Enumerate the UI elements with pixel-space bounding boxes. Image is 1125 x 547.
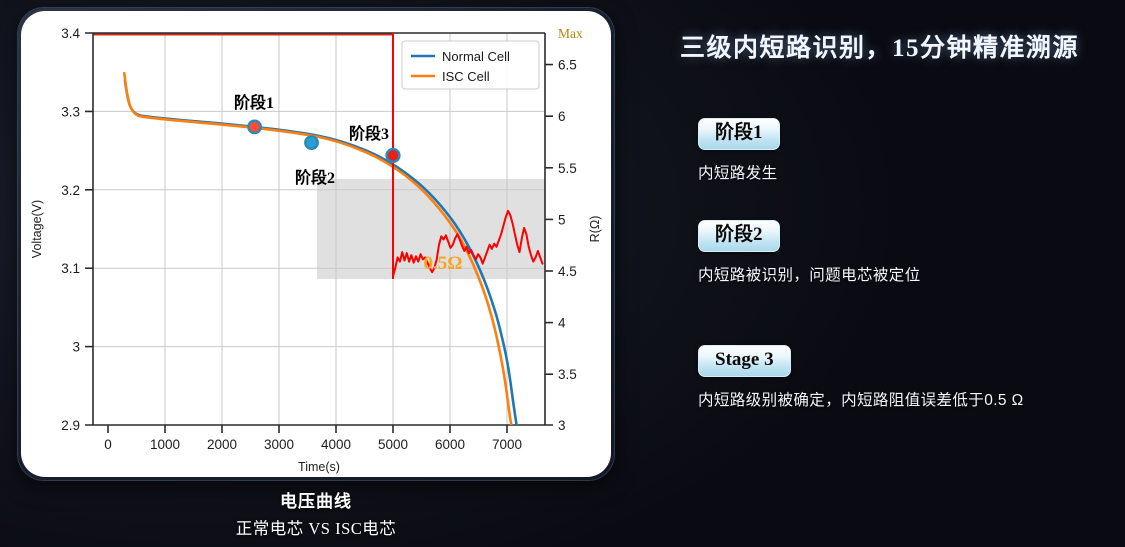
legend-label-normal-cell: Normal Cell [442, 49, 510, 64]
ytick-2.9: 2.9 [61, 418, 80, 433]
chart-card: 阶段1 阶段2 阶段3 0.5Ω [21, 11, 611, 477]
content-panel: 三级内短路识别，15分钟精准溯源 阶段1 内短路发生 阶段2 内短路被识别，问题… [640, 0, 1125, 547]
stage-2-description: 内短路被识别，问题电芯被定位 [698, 263, 1118, 285]
ytick-3.0: 3 [72, 340, 80, 355]
stage-3-chart-label: 阶段3 [349, 124, 389, 143]
ytick-right-6.0: 6 [558, 109, 566, 124]
y-axis-right: Max 6.5 6 5.5 4.5 5 4 3.5 3 R(Ω) [545, 26, 602, 433]
ytick-right-6.5: 6.5 [558, 58, 577, 73]
stage-1-chart-label: 阶段1 [234, 93, 274, 112]
stage-1-marker[interactable] [248, 121, 260, 133]
stage-1-badge[interactable]: 阶段1 [698, 118, 780, 150]
resistance-error-annotation: 0.5Ω [424, 253, 463, 274]
xtick-6000: 6000 [435, 437, 465, 452]
ytick-right-4.5: 4.5 [558, 264, 577, 279]
ytick-right-3.5: 3.5 [558, 367, 577, 382]
stage-3-description: 内短路级别被确定，内短路阻值误差低于0.5 Ω [698, 388, 1118, 410]
slide-root: 阶段1 阶段2 阶段3 0.5Ω [0, 0, 1125, 547]
ytick-right-max: Max [558, 26, 583, 41]
x-axis-title: Time(s) [298, 460, 340, 474]
xtick-3000: 3000 [264, 437, 294, 452]
stage-2-badge[interactable]: 阶段2 [698, 220, 780, 252]
ytick-3.4: 3.4 [61, 26, 80, 41]
plot-area: 阶段1 阶段2 阶段3 0.5Ω [21, 11, 611, 477]
xtick-5000: 5000 [378, 437, 408, 452]
stage-block-1: 阶段1 内短路发生 [698, 118, 1118, 183]
ytick-right-5.5: 5.5 [558, 161, 577, 176]
stage-2-marker[interactable] [305, 136, 317, 148]
stage-1-description: 内短路发生 [698, 161, 1118, 183]
stage-block-3: Stage 3 内短路级别被确定，内短路阻值误差低于0.5 Ω [698, 345, 1118, 410]
stage-block-2: 阶段2 内短路被识别，问题电芯被定位 [698, 220, 1118, 285]
caption-sub: 正常电芯 VS ISC电芯 [18, 515, 614, 539]
voltage-resistance-chart: 阶段1 阶段2 阶段3 0.5Ω [21, 11, 611, 477]
ytick-3.3: 3.3 [61, 104, 80, 119]
chart-panel: 阶段1 阶段2 阶段3 0.5Ω [18, 8, 614, 480]
ytick-right-5.0: 5 [558, 212, 566, 227]
caption-main: 电压曲线 [18, 487, 614, 512]
ytick-3.1: 3.1 [61, 261, 80, 276]
xtick-4000: 4000 [321, 437, 351, 452]
xtick-2000: 2000 [207, 437, 237, 452]
y-axis-left-title: Voltage(V) [30, 200, 44, 258]
stage-2-chart-label: 阶段2 [295, 168, 335, 187]
chart-legend[interactable]: Normal Cell ISC Cell [402, 41, 539, 89]
y-axis-left: 3.4 3.3 3.2 3.1 3 2.9 Voltage(V) [30, 26, 93, 433]
stage-3-marker[interactable] [387, 149, 400, 162]
ytick-right-4.0: 4 [558, 316, 566, 331]
stage-3-badge[interactable]: Stage 3 [698, 345, 791, 377]
xtick-0: 0 [104, 437, 112, 452]
ytick-3.2: 3.2 [61, 183, 80, 198]
legend-label-isc-cell: ISC Cell [442, 69, 490, 84]
x-axis: 0 1000 2000 3000 4000 5000 6000 7000 Tim… [104, 425, 522, 474]
xtick-1000: 1000 [150, 437, 180, 452]
chart-caption: 电压曲线 正常电芯 VS ISC电芯 [18, 487, 614, 539]
xtick-7000: 7000 [492, 437, 522, 452]
ytick-right-3.0: 3 [558, 418, 566, 433]
y-axis-right-title: R(Ω) [588, 216, 602, 243]
page-title: 三级内短路识别，15分钟精准溯源 [680, 28, 1110, 64]
